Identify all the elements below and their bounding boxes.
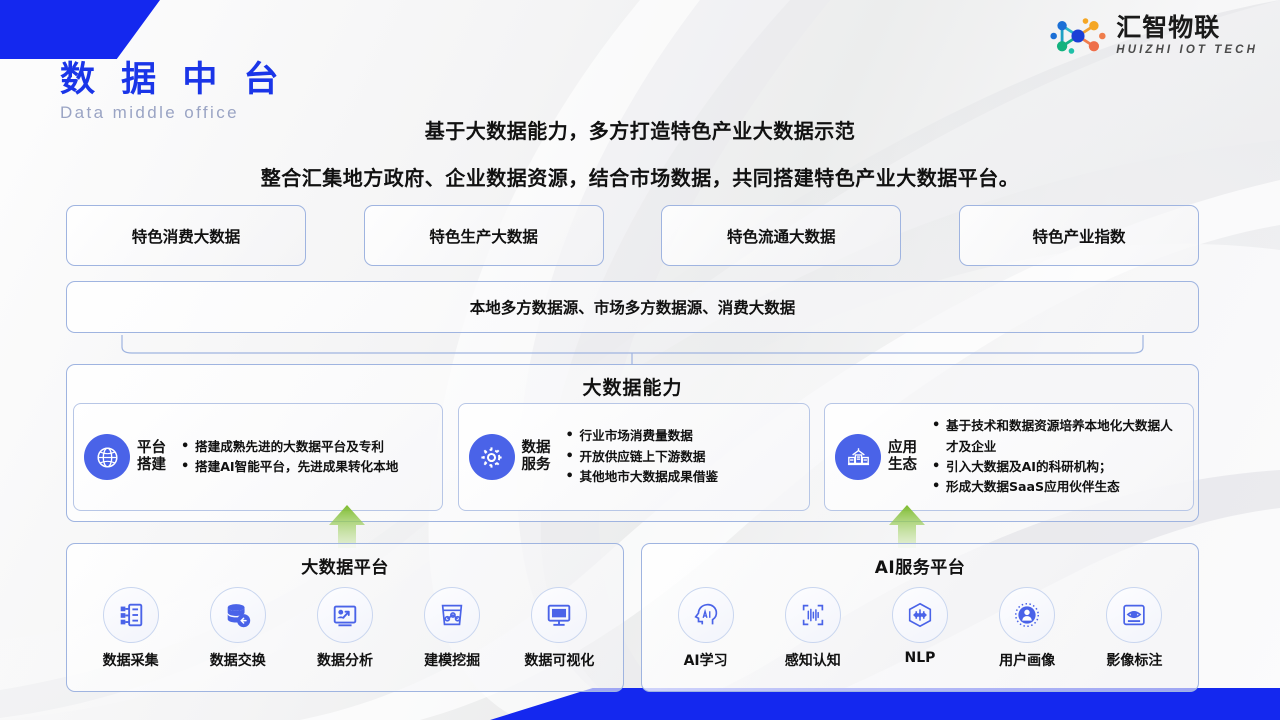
platform-item-label: AI学习 <box>684 650 728 670</box>
category-box-circulation[interactable]: 特色流通大数据 <box>661 205 901 266</box>
eye-image-icon <box>1106 587 1162 643</box>
capability-bullet-list: 搭建成熟先进的大数据平台及专利 搭建AI智能平台，先进成果转化本地 <box>179 437 434 478</box>
platform-item-label: NLP <box>905 650 936 666</box>
capability-bullet: 搭建成熟先进的大数据平台及专利 <box>179 437 434 457</box>
platform-item-label: 数据可视化 <box>524 650 594 670</box>
ai-head-icon <box>678 587 734 643</box>
platform-title: AI服务平台 <box>642 553 1198 578</box>
category-label: 特色消费大数据 <box>132 225 241 247</box>
top-left-accent-shape <box>0 0 160 59</box>
collect-list-icon <box>103 587 159 643</box>
category-box-index[interactable]: 特色产业指数 <box>959 205 1199 266</box>
platform-item-data-analysis[interactable]: 数据分析 <box>295 587 395 670</box>
bottom-right-accent-shape <box>490 688 1280 720</box>
capability-label-line2: 服务 <box>522 457 554 474</box>
platform-item-label: 数据交换 <box>210 650 266 670</box>
headline-line-1: 基于大数据能力，多方打造特色产业大数据示范 <box>0 115 1280 144</box>
node-network-icon <box>892 587 948 643</box>
platform-item-image-annotation[interactable]: 影像标注 <box>1084 587 1184 670</box>
platform-item-label: 建模挖掘 <box>424 650 480 670</box>
data-sources-label: 本地多方数据源、市场多方数据源、消费大数据 <box>470 296 796 318</box>
connector-bracket <box>66 333 1199 365</box>
platform-item-list: AI学习 <box>642 587 1198 670</box>
capability-bullet-list: 基于技术和数据资源培养本地化大数据人才及企业 引入大数据及AI的科研机构； 形成… <box>930 416 1185 498</box>
capability-panel-title: 大数据能力 <box>67 373 1198 400</box>
platform-panel-bigdata: 大数据平台 <box>66 543 624 692</box>
platform-item-data-exchange[interactable]: 数据交换 <box>188 587 288 670</box>
page-title-block: 数 据 中 台 Data middle office <box>60 62 286 123</box>
platform-item-label: 数据分析 <box>317 650 373 670</box>
platform-item-nlp[interactable]: NLP <box>870 587 970 666</box>
platform-item-data-visualization[interactable]: 数据可视化 <box>509 587 609 670</box>
platform-item-label: 数据采集 <box>103 650 159 670</box>
globe-icon <box>84 434 130 480</box>
platform-item-label: 感知认知 <box>785 650 841 670</box>
platform-item-user-portrait[interactable]: 用户画像 <box>977 587 1077 670</box>
platform-item-data-collection[interactable]: 数据采集 <box>81 587 181 670</box>
headline-block: 基于大数据能力，多方打造特色产业大数据示范 整合汇集地方政府、企业数据资源，结合… <box>0 115 1280 191</box>
headline-line-2: 整合汇集地方政府、企业数据资源，结合市场数据，共同搭建特色产业大数据平台。 <box>0 162 1280 191</box>
platform-title: 大数据平台 <box>67 553 623 578</box>
brand-logo: 汇智物联 HUIZHI IOT TECH <box>1049 14 1258 58</box>
platform-panel-ai: AI服务平台 AI学习 <box>641 543 1199 692</box>
gear-icon <box>469 434 515 480</box>
capability-bullet: 开放供应链上下游数据 <box>564 447 801 467</box>
data-sources-bar[interactable]: 本地多方数据源、市场多方数据源、消费大数据 <box>66 281 1199 333</box>
page-title: 数 据 中 台 <box>60 62 286 99</box>
capability-box-row: 平台 搭建 搭建成熟先进的大数据平台及专利 搭建AI智能平台，先进成果转化本地 <box>67 403 1200 511</box>
capability-panel: 大数据能力 平台 搭建 <box>66 364 1199 522</box>
user-portrait-icon <box>999 587 1055 643</box>
capability-bullet: 基于技术和数据资源培养本地化大数据人才及企业 <box>930 416 1185 457</box>
platform-item-ai-learning[interactable]: AI学习 <box>656 587 756 670</box>
molecule-network-icon <box>1049 14 1107 58</box>
institution-icon <box>835 434 881 480</box>
platform-item-perception-cognition[interactable]: 感知认知 <box>763 587 863 670</box>
category-box-consumption[interactable]: 特色消费大数据 <box>66 205 306 266</box>
database-exchange-icon <box>210 587 266 643</box>
capability-bullet: 其他地市大数据成果借鉴 <box>564 467 801 487</box>
capability-bullet: 搭建AI智能平台，先进成果转化本地 <box>179 457 434 477</box>
capability-label-line1: 数据 <box>522 440 554 457</box>
category-label: 特色产业指数 <box>1032 225 1125 247</box>
capability-box-label: 平台 搭建 <box>137 440 169 475</box>
capability-label-line2: 搭建 <box>137 457 169 474</box>
capability-box-application-ecosystem[interactable]: 应用 生态 基于技术和数据资源培养本地化大数据人才及企业 引入大数据及AI的科研… <box>824 403 1194 511</box>
category-box-production[interactable]: 特色生产大数据 <box>364 205 604 266</box>
capability-label-line2: 生态 <box>888 457 920 474</box>
category-row: 特色消费大数据 特色生产大数据 特色流通大数据 特色产业指数 <box>66 205 1199 266</box>
platform-item-list: 数据采集 数据交 <box>67 587 623 670</box>
platform-item-label: 影像标注 <box>1106 650 1162 670</box>
slide-root: 数 据 中 台 Data middle office 汇智物联 HUIZHI I… <box>0 0 1280 720</box>
category-label: 特色生产大数据 <box>429 225 538 247</box>
capability-box-data-service[interactable]: 数据 服务 行业市场消费量数据 开放供应链上下游数据 其他地市大数据成果借鉴 <box>458 403 810 511</box>
logo-title-en: HUIZHI IOT TECH <box>1116 45 1258 57</box>
analysis-chart-icon <box>317 587 373 643</box>
capability-label-line1: 平台 <box>137 440 169 457</box>
platform-item-label: 用户画像 <box>999 650 1055 670</box>
capability-icon-group: 数据 服务 <box>469 434 554 480</box>
scan-waveform-icon <box>785 587 841 643</box>
capability-box-label: 数据 服务 <box>522 440 554 475</box>
category-label: 特色流通大数据 <box>727 225 836 247</box>
capability-box-platform[interactable]: 平台 搭建 搭建成熟先进的大数据平台及专利 搭建AI智能平台，先进成果转化本地 <box>73 403 443 511</box>
capability-icon-group: 应用 生态 <box>835 434 920 480</box>
capability-bullet: 形成大数据SaaS应用伙伴生态 <box>930 477 1185 497</box>
modeling-graph-icon <box>424 587 480 643</box>
capability-bullet: 引入大数据及AI的科研机构； <box>930 457 1185 477</box>
capability-label-line1: 应用 <box>888 440 920 457</box>
monitor-icon <box>531 587 587 643</box>
capability-bullet: 行业市场消费量数据 <box>564 426 801 446</box>
capability-box-label: 应用 生态 <box>888 440 920 475</box>
platform-row: 大数据平台 <box>66 543 1199 692</box>
logo-title-cn: 汇智物联 <box>1116 15 1258 40</box>
capability-bullet-list: 行业市场消费量数据 开放供应链上下游数据 其他地市大数据成果借鉴 <box>564 426 801 487</box>
capability-icon-group: 平台 搭建 <box>84 434 169 480</box>
platform-item-modeling-mining[interactable]: 建模挖掘 <box>402 587 502 670</box>
